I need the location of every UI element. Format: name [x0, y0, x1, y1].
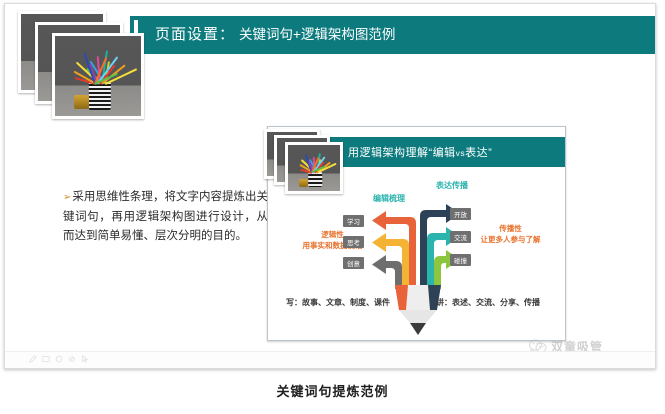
page-title-sub: 关键词句+逻辑架构图范例 — [239, 27, 395, 42]
diagram-bottom-right: 讲：表述、交流、分享、传播 — [436, 297, 540, 308]
page-title-main: 页面设置： — [155, 26, 235, 43]
diagram-tag-left: 学习 — [343, 215, 364, 227]
pen-icon[interactable] — [29, 355, 37, 363]
pencil-shape — [395, 285, 441, 335]
bullet-arrow-icon: ➢ — [63, 192, 71, 203]
body-paragraph-text: 采用思维性条理，将文字内容提炼出关键词句，再用逻辑架构图进行设计，从而达到简单易… — [63, 189, 268, 242]
presentation-slide: 页面设置：关键词句+逻辑架构图范例 ➢采用思维性条理，将文字内容提炼出关键词句，… — [4, 3, 656, 369]
side-right-title: 传播性 — [463, 223, 558, 234]
diagram-heading-right: 表达传播 — [436, 180, 468, 191]
diagram-side-right: 传播性 让更多人参与了解 — [463, 223, 558, 245]
diagram-tag-left: 思考 — [343, 236, 364, 248]
eraser-icon[interactable] — [68, 355, 76, 363]
diagram-tag-right: 交流 — [450, 231, 471, 243]
diagram-tag-right: 开放 — [450, 208, 471, 220]
pointer-icon[interactable] — [81, 355, 89, 363]
example-title-suffix: 表达” — [465, 147, 492, 159]
diagram-heading-left: 编辑梳理 — [373, 193, 405, 204]
slideshow-toolbar — [5, 351, 655, 368]
body-paragraph: ➢采用思维性条理，将文字内容提炼出关键词句，再用逻辑架构图进行设计，从而达到简单… — [63, 187, 268, 245]
screen-icon[interactable] — [42, 355, 50, 363]
slideshow-toolbar-icons — [29, 355, 89, 363]
side-right-sub: 让更多人参与了解 — [463, 234, 558, 245]
funnel-arrows-svg — [268, 175, 565, 340]
marker-icon[interactable] — [55, 355, 63, 363]
photo-thumbnail-front — [52, 33, 144, 119]
figure-caption: 关键词句提炼范例 — [0, 381, 665, 400]
photo-stack-outer — [18, 11, 148, 129]
example-title-vs: vs — [456, 148, 466, 158]
logic-funnel-diagram: 编辑梳理 表达传播 逻辑性 用事实和数据说话 传播性 让更多人参与了解 学习 思… — [268, 175, 565, 340]
diagram-tag-left: 创意 — [343, 257, 364, 269]
example-title-prefix: 用逻辑架构理解“编辑 — [348, 147, 456, 159]
left-arrow-group — [372, 211, 416, 289]
page-title: 页面设置：关键词句+逻辑架构图范例 — [155, 23, 395, 44]
diagram-bottom-left: 写：故事、文章、制度、课件 — [286, 297, 390, 308]
diagram-tag-right: 碰撞 — [450, 254, 471, 266]
example-slide-title: 用逻辑架构理解“编辑vs表达” — [348, 144, 492, 160]
example-slide-preview: 用逻辑架构理解“编辑vs表达” — [267, 126, 566, 341]
